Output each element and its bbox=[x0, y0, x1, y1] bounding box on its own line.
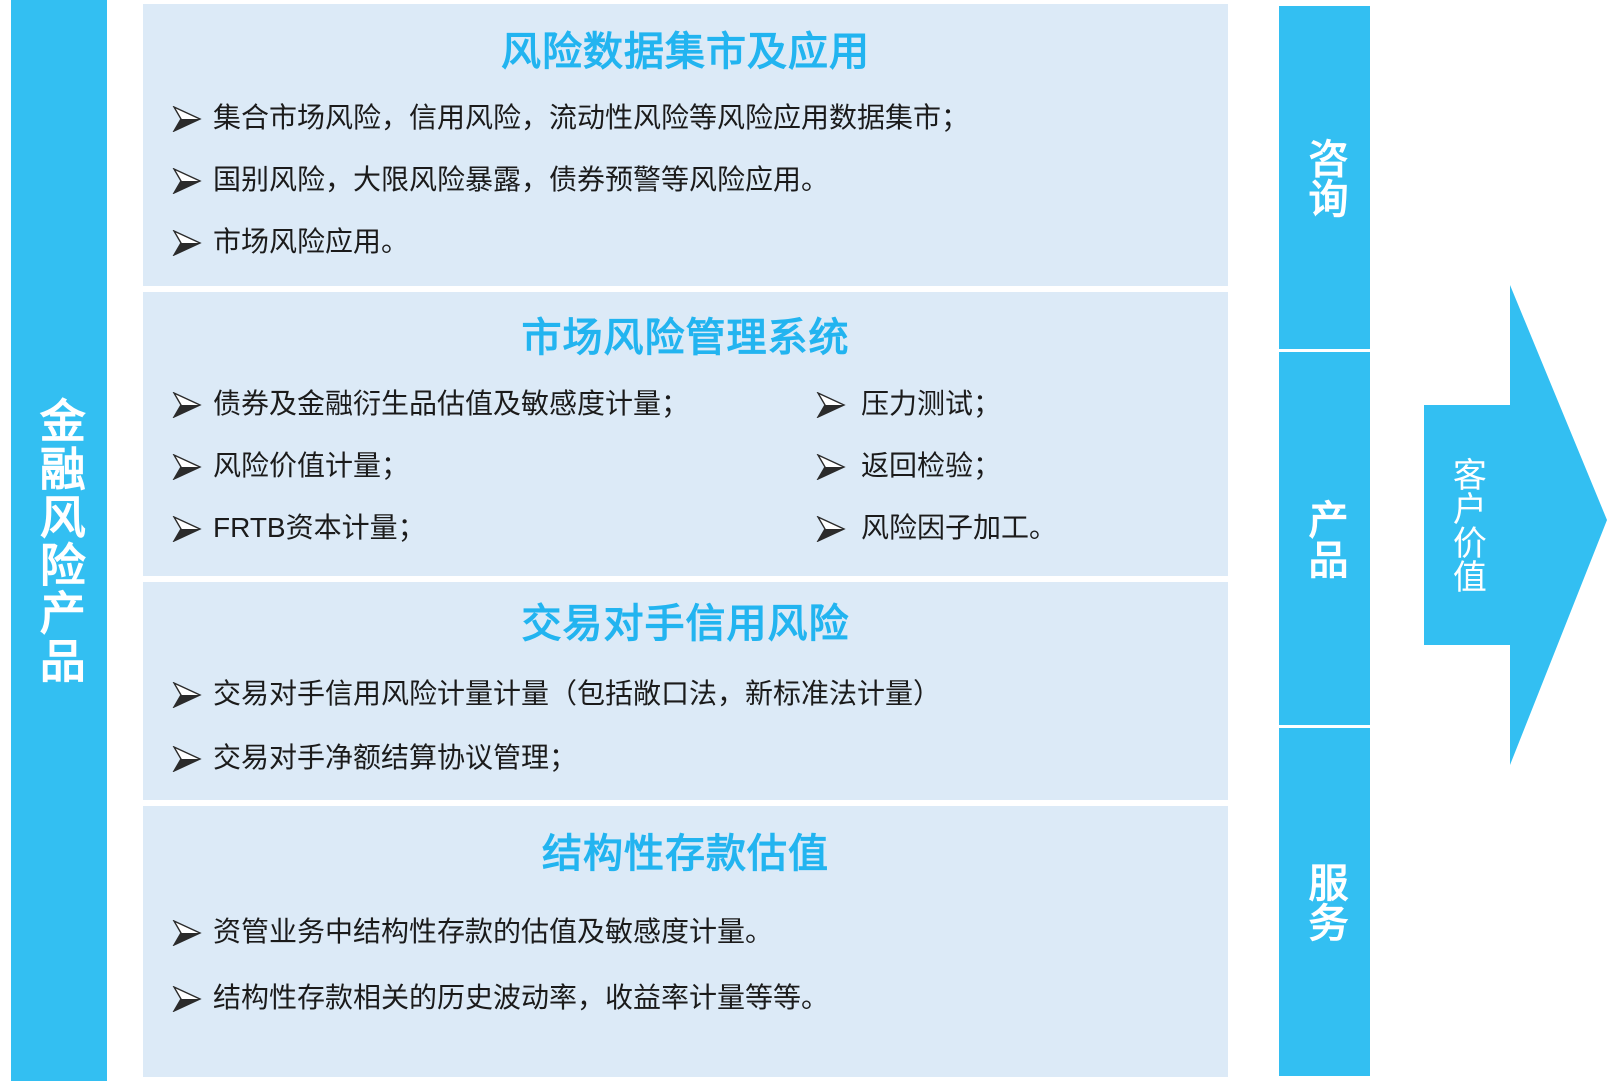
customer-value-arrow: 客户价值 bbox=[1418, 270, 1607, 780]
bullet-list: 交易对手信用风险计量计量（包括敞口法，新标准法计量） 交易对手净额结算协议管理； bbox=[143, 678, 1228, 774]
list-item-text: 风险因子加工。 bbox=[861, 512, 1057, 544]
list-item: 市场风险应用。 bbox=[143, 226, 1228, 258]
left-banner-label: 金融风险产品 bbox=[33, 397, 85, 685]
list-item: 返回检验； bbox=[783, 450, 1213, 482]
section-stack: 风险数据集市及应用 集合市场风险，信用风险，流动性风险等风险应用数据集市； bbox=[143, 0, 1228, 1081]
stage-block-label: 服务 bbox=[1303, 862, 1347, 942]
arrow-bullet-icon bbox=[801, 388, 861, 418]
section-title: 结构性存款估值 bbox=[143, 806, 1228, 874]
list-item-text: 风险价值计量； bbox=[213, 450, 409, 482]
section-risk-data-mart: 风险数据集市及应用 集合市场风险，信用风险，流动性风险等风险应用数据集市； bbox=[143, 4, 1228, 286]
list-item-text: 市场风险应用。 bbox=[213, 226, 409, 258]
list-item: 压力测试； bbox=[783, 388, 1213, 420]
list-item: 交易对手信用风险计量计量（包括敞口法，新标准法计量） bbox=[143, 678, 1228, 710]
section-title: 风险数据集市及应用 bbox=[143, 4, 1228, 72]
right-stage-column: 咨询 产品 服务 bbox=[1279, 6, 1370, 1076]
arrow-bullet-icon bbox=[161, 164, 213, 194]
list-item: 交易对手净额结算协议管理； bbox=[143, 742, 1228, 774]
section-market-risk-management-system: 市场风险管理系统 债券及金融衍生品估值及敏感度计量； bbox=[143, 292, 1228, 576]
arrow-bullet-icon bbox=[161, 450, 213, 480]
arrow-right-icon bbox=[1418, 270, 1607, 780]
arrow-bullet-icon bbox=[161, 102, 213, 132]
list-item-text: 压力测试； bbox=[861, 388, 1001, 420]
list-item-text: 交易对手净额结算协议管理； bbox=[213, 742, 577, 774]
bullet-list-left: 债券及金融衍生品估值及敏感度计量； 风险价值计量； bbox=[143, 388, 783, 575]
section-structured-deposit-valuation: 结构性存款估值 资管业务中结构性存款的估值及敏感度计量。 bbox=[143, 806, 1228, 1077]
two-column-bullets: 债券及金融衍生品估值及敏感度计量； 风险价值计量； bbox=[143, 388, 1228, 575]
list-item-text: 债券及金融衍生品估值及敏感度计量； bbox=[213, 388, 689, 420]
list-item-text: 返回检验； bbox=[861, 450, 1001, 482]
section-title: 交易对手信用风险 bbox=[143, 582, 1228, 644]
section-title: 市场风险管理系统 bbox=[143, 292, 1228, 358]
list-item: 风险价值计量； bbox=[143, 450, 783, 482]
stage-block-label: 产品 bbox=[1303, 499, 1347, 579]
arrow-bullet-icon bbox=[161, 742, 213, 772]
list-item: 资管业务中结构性存款的估值及敏感度计量。 bbox=[143, 916, 1228, 948]
arrow-bullet-icon bbox=[161, 982, 213, 1012]
stage-block-label: 咨询 bbox=[1303, 138, 1347, 218]
list-item-text: 结构性存款相关的历史波动率，收益率计量等等。 bbox=[213, 982, 829, 1014]
arrow-bullet-icon bbox=[801, 450, 861, 480]
list-item-text: FRTB资本计量； bbox=[213, 512, 426, 544]
list-item: 债券及金融衍生品估值及敏感度计量； bbox=[143, 388, 783, 420]
section-counterparty-credit-risk: 交易对手信用风险 交易对手信用风险计量计量（包括敞口法，新标准法计量） bbox=[143, 582, 1228, 800]
stage-block-consulting: 咨询 bbox=[1279, 6, 1370, 349]
left-banner: 金融风险产品 bbox=[11, 0, 107, 1081]
list-item-text: 国别风险，大限风险暴露，债券预警等风险应用。 bbox=[213, 164, 829, 196]
list-item-text: 集合市场风险，信用风险，流动性风险等风险应用数据集市； bbox=[213, 102, 969, 134]
stage-block-product: 产品 bbox=[1279, 352, 1370, 725]
list-item: 风险因子加工。 bbox=[783, 512, 1213, 544]
bullet-list: 资管业务中结构性存款的估值及敏感度计量。 结构性存款相关的历史波动率，收益率计量… bbox=[143, 916, 1228, 1014]
arrow-bullet-icon bbox=[161, 388, 213, 418]
arrow-bullet-icon bbox=[161, 512, 213, 542]
arrow-bullet-icon bbox=[161, 226, 213, 256]
list-item: 结构性存款相关的历史波动率，收益率计量等等。 bbox=[143, 982, 1228, 1014]
stage-block-service: 服务 bbox=[1279, 728, 1370, 1076]
arrow-bullet-icon bbox=[801, 512, 861, 542]
list-item: 国别风险，大限风险暴露，债券预警等风险应用。 bbox=[143, 164, 1228, 196]
bullet-list-right: 压力测试； 返回检验； bbox=[783, 388, 1213, 575]
arrow-bullet-icon bbox=[161, 916, 213, 946]
list-item-text: 资管业务中结构性存款的估值及敏感度计量。 bbox=[213, 916, 773, 948]
list-item-text: 交易对手信用风险计量计量（包括敞口法，新标准法计量） bbox=[213, 678, 941, 710]
arrow-bullet-icon bbox=[161, 678, 213, 708]
diagram-canvas: 金融风险产品 风险数据集市及应用 集合市场风险，信用风险，流动性风险等风险应用数… bbox=[0, 0, 1607, 1081]
list-item: 集合市场风险，信用风险，流动性风险等风险应用数据集市； bbox=[143, 102, 1228, 134]
bullet-list: 集合市场风险，信用风险，流动性风险等风险应用数据集市； 国别风险，大限风险暴露，… bbox=[143, 102, 1228, 259]
list-item: FRTB资本计量； bbox=[143, 512, 783, 544]
